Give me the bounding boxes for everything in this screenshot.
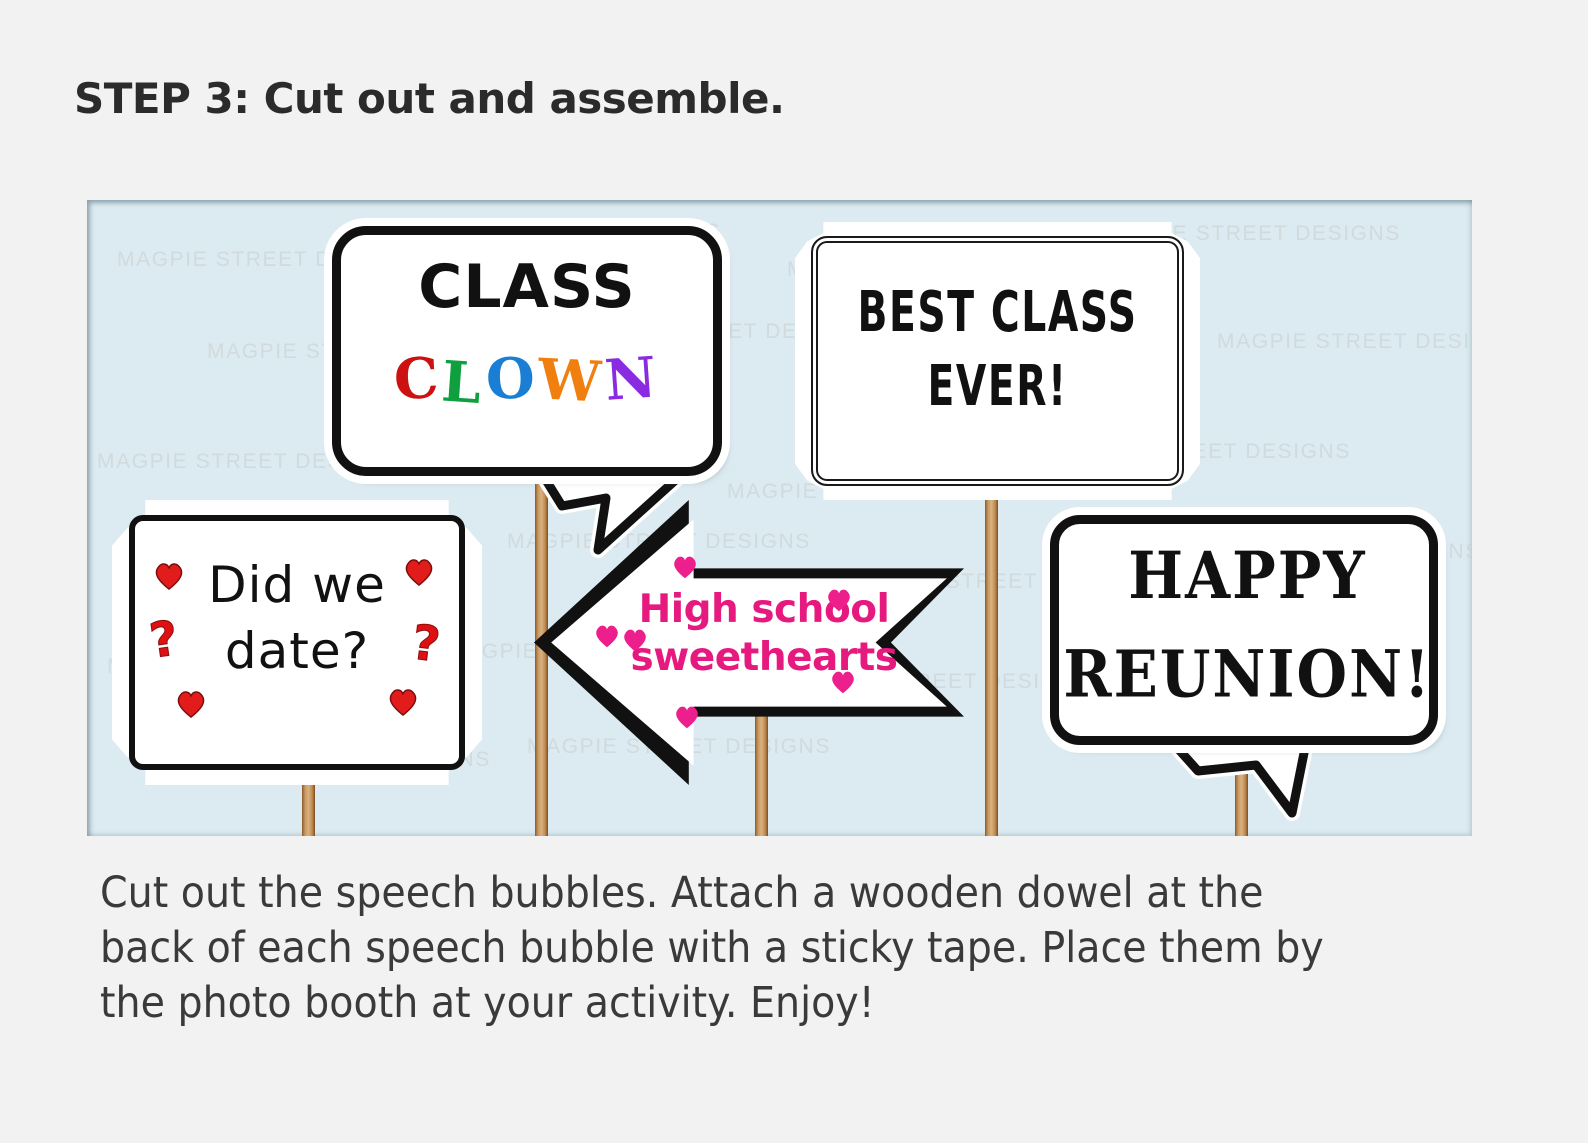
watermark-text: MAGPIE STREET DESIGNS [1217, 330, 1472, 354]
heart-icon [594, 624, 620, 648]
clown-letter-n: N [603, 344, 663, 414]
sign-best-class-ever[interactable]: BEST CLASS EVER! [795, 222, 1200, 500]
heart-icon [622, 628, 648, 652]
clown-letter-w: W [537, 346, 607, 415]
class-clown-line1: CLASS [332, 252, 722, 322]
heart-icon [388, 688, 418, 716]
page-title: STEP 3: Cut out and assemble. [74, 74, 784, 123]
happy-reunion-line2: REUNION! [1050, 625, 1445, 724]
best-class-ever-text: BEST CLASS EVER! [840, 276, 1156, 424]
sign-class-clown[interactable]: CLASS CLOWN [332, 226, 732, 526]
heart-icon [154, 562, 184, 590]
best-class-ever-line1: BEST CLASS [840, 276, 1156, 350]
heart-icon [826, 588, 852, 612]
clown-letter-l: L [440, 349, 488, 418]
sweethearts-text: High school sweethearts [604, 586, 924, 682]
heart-icon [176, 690, 206, 718]
sign-happy-reunion[interactable]: HAPPY REUNION! [1050, 515, 1445, 805]
sign-did-we-date[interactable]: Did we date? ? ? [112, 500, 482, 785]
best-class-ever-line2: EVER! [840, 350, 1156, 424]
heart-icon [830, 670, 856, 694]
heart-icon [674, 705, 700, 729]
sign-high-school-sweethearts[interactable]: High school sweethearts [534, 500, 964, 785]
happy-reunion-text: HAPPY REUNION! [1050, 526, 1445, 723]
class-clown-line2: CLOWN [332, 346, 722, 412]
photo-panel: MAGPIE STREET DESIGNS MAGPIE STREET DESI… [87, 200, 1472, 836]
dowel-stick [985, 475, 998, 836]
instruction-caption: Cut out the speech bubbles. Attach a woo… [100, 866, 1370, 1031]
happy-reunion-line1: HAPPY [1050, 526, 1445, 625]
heart-icon [672, 555, 698, 579]
sweethearts-line1: High school [604, 586, 924, 634]
clown-letter-o: O [484, 345, 539, 413]
clown-letter-c: C [392, 345, 444, 413]
sweethearts-line2: sweethearts [604, 634, 924, 682]
heart-icon [404, 558, 434, 586]
